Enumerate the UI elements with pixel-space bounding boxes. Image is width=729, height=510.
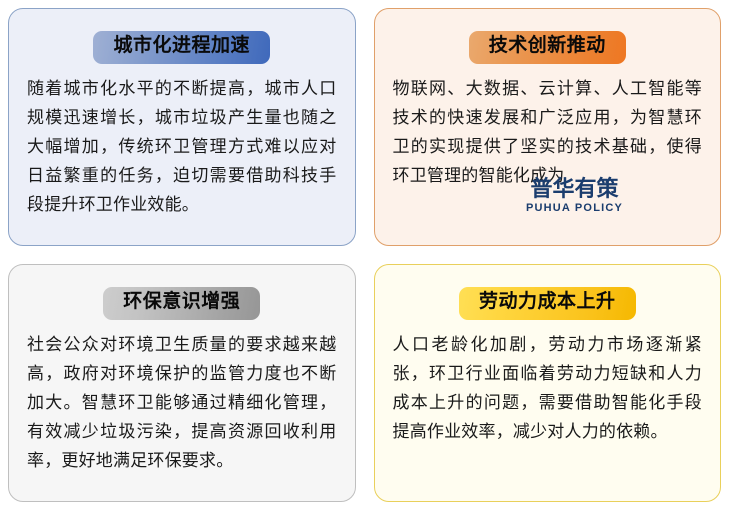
card-environmental-awareness: 环保意识增强 社会公众对环境卫生质量的要求越来越高，政府对环境保护的监管力度也不… xyxy=(8,264,356,502)
card-technology-innovation-badge-row: 技术创新推动 xyxy=(387,31,709,64)
card-labor-cost-rise: 劳动力成本上升 人口老龄化加剧，劳动力市场逐渐紧张，环卫行业面临着劳动力短缺和人… xyxy=(374,264,722,502)
card-environmental-awareness-body: 社会公众对环境卫生质量的要求越来越高，政府对环境保护的监管力度也不断加大。智慧环… xyxy=(21,330,343,475)
card-urbanization-badge: 城市化进程加速 xyxy=(93,31,270,64)
card-environmental-awareness-badge: 环保意识增强 xyxy=(103,287,260,320)
watermark-english-text: PUHUA POLICY xyxy=(511,202,639,215)
card-urbanization-body: 随着城市化水平的不断提高，城市人口规模迅速增长，城市垃圾产生量也随之大幅增加，传… xyxy=(21,74,343,219)
card-technology-innovation-badge: 技术创新推动 xyxy=(469,31,626,64)
card-technology-innovation: 技术创新推动 物联网、大数据、云计算、人工智能等技术的快速发展和广泛应用，为智慧… xyxy=(374,8,722,246)
card-labor-cost-rise-badge: 劳动力成本上升 xyxy=(459,287,636,320)
card-technology-innovation-body: 物联网、大数据、云计算、人工智能等技术的快速发展和广泛应用，为智慧环卫的实现提供… xyxy=(387,74,709,190)
card-urbanization-badge-row: 城市化进程加速 xyxy=(21,31,343,64)
card-environmental-awareness-badge-row: 环保意识增强 xyxy=(21,287,343,320)
card-labor-cost-rise-body: 人口老龄化加剧，劳动力市场逐渐紧张，环卫行业面临着劳动力短缺和人力成本上升的问题… xyxy=(387,330,709,446)
card-labor-cost-rise-badge-row: 劳动力成本上升 xyxy=(387,287,709,320)
card-urbanization: 城市化进程加速 随着城市化水平的不断提高，城市人口规模迅速增长，城市垃圾产生量也… xyxy=(8,8,356,246)
card-grid: 城市化进程加速 随着城市化水平的不断提高，城市人口规模迅速增长，城市垃圾产生量也… xyxy=(0,0,729,510)
